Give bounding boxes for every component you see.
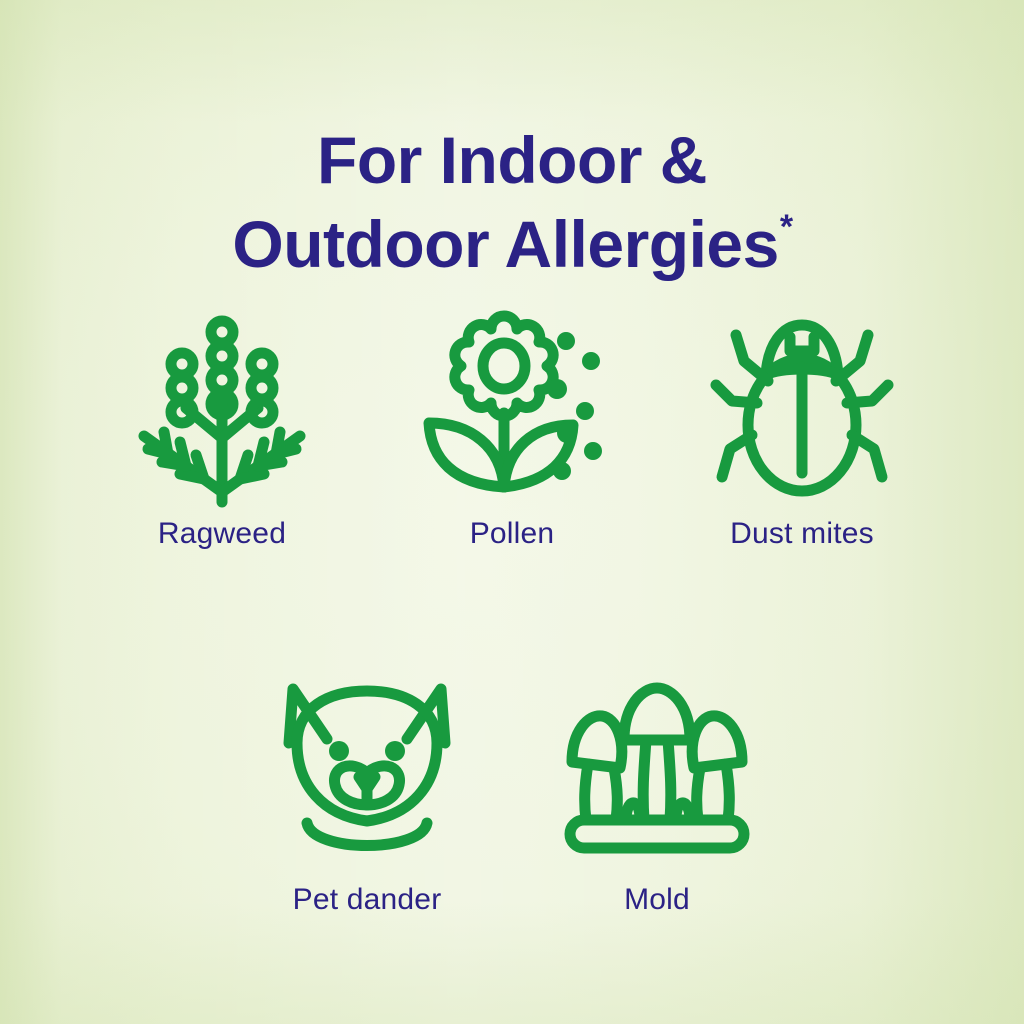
allergen-item-ragweed[interactable]: Ragweed xyxy=(77,316,367,551)
allergen-item-pollen[interactable]: Pollen xyxy=(367,316,657,551)
headline-line-2: Outdoor Allergies xyxy=(232,207,778,281)
allergen-label-pollen: Pollen xyxy=(470,517,555,551)
allergen-row-top: Ragweed xyxy=(0,316,1024,551)
allergen-row-bottom: Pet dander xyxy=(0,676,1024,917)
mushroom-mold-icon xyxy=(562,676,752,861)
allergen-label-ragweed: Ragweed xyxy=(158,517,286,551)
allergen-label-pet-dander: Pet dander xyxy=(293,883,442,917)
allergen-item-mold[interactable]: Mold xyxy=(512,676,802,917)
dust-mite-bug-icon xyxy=(707,316,897,501)
headline-line-1: For Indoor & xyxy=(0,118,1024,202)
allergen-label-mold: Mold xyxy=(624,883,690,917)
footnote-asterisk: * xyxy=(780,208,793,246)
allergy-infographic-poster: For Indoor & Outdoor Allergies* xyxy=(0,0,1024,1024)
allergen-item-pet-dander[interactable]: Pet dander xyxy=(222,676,512,917)
allergen-label-dust-mites: Dust mites xyxy=(730,517,874,551)
ragweed-icon xyxy=(127,316,317,501)
allergen-item-dust-mites[interactable]: Dust mites xyxy=(657,316,947,551)
pollen-flower-icon xyxy=(417,316,607,501)
dog-face-icon xyxy=(272,676,462,861)
page-title: For Indoor & Outdoor Allergies* xyxy=(0,118,1024,286)
